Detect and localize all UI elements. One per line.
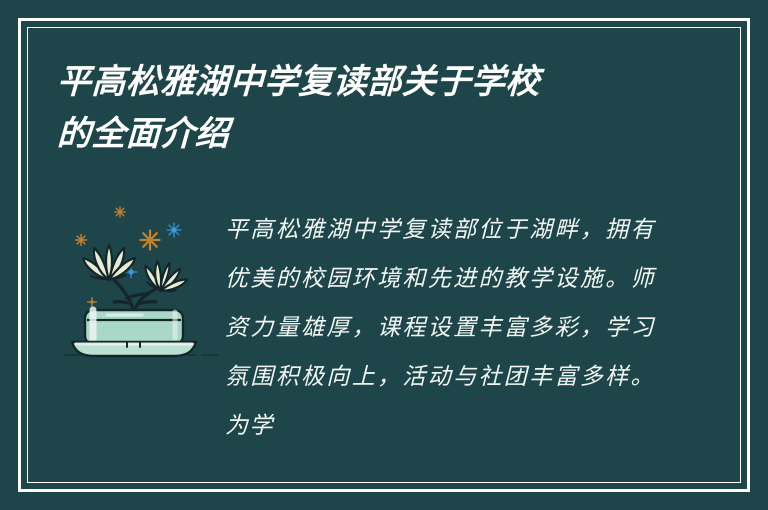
- poster-canvas: 平高松雅湖中学复读部关于学校 的全面介绍: [0, 0, 768, 510]
- potted-plant-illustration: [52, 192, 232, 372]
- body-paragraph: 平高松雅湖中学复读部位于湖畔，拥有优美的校园环境和先进的教学设施。师资力量雄厚，…: [225, 206, 655, 451]
- potted-plant-svg: [52, 192, 232, 372]
- flower-pot: [85, 310, 183, 344]
- pot-saucer: [72, 342, 196, 356]
- sparkle-blue-icon: [125, 223, 181, 278]
- flower-left: [83, 245, 135, 280]
- title-line-2: 的全面介绍: [56, 108, 678, 160]
- flower-right: [140, 256, 191, 297]
- title-line-1: 平高松雅湖中学复读部关于学校: [56, 56, 678, 108]
- body-text-block: 平高松雅湖中学复读部位于湖畔，拥有优美的校园环境和先进的教学设施。师资力量雄厚，…: [225, 206, 655, 451]
- page-title: 平高松雅湖中学复读部关于学校 的全面介绍: [57, 56, 677, 160]
